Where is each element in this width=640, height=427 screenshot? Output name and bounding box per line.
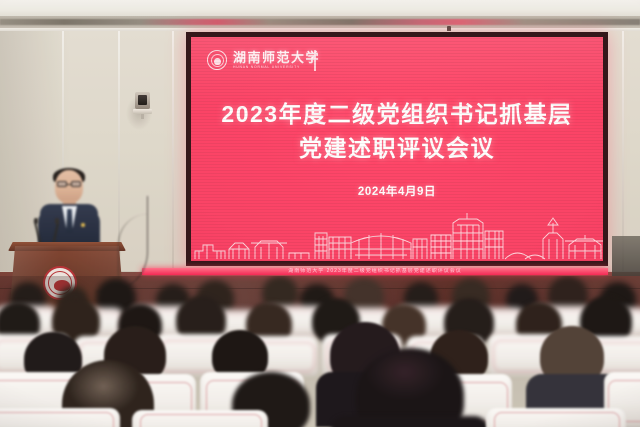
wall-panel-seam bbox=[622, 31, 624, 271]
logo-divider bbox=[314, 50, 316, 71]
microphone-head-right bbox=[55, 218, 59, 224]
campus-skyline-icon bbox=[191, 209, 603, 261]
camera-lens-icon bbox=[138, 95, 147, 105]
slide-title-line-1: 2023年度二级党组织书记抓基层 bbox=[191, 97, 603, 131]
seated-audience bbox=[0, 276, 640, 427]
university-name-cn: 湖南师范大学 bbox=[233, 51, 320, 64]
university-logo-lockup: 湖南师范大学 HUNAN NORMAL UNIVERSITY bbox=[207, 50, 320, 70]
audience-shoulders bbox=[330, 416, 490, 427]
slide-title-block: 2023年度二级党组织书记抓基层 党建述职评议会议 2024年4月9日 bbox=[191, 97, 603, 199]
led-ticker-text: 湖南师范大学 2023年度二级党组织书记抓基层党建述职评议会议 bbox=[142, 268, 608, 275]
slide-date: 2024年4月9日 bbox=[191, 183, 603, 199]
wall-panel-seam bbox=[172, 31, 174, 271]
seat bbox=[0, 408, 120, 427]
slide-title-line-2: 党建述职评议会议 bbox=[191, 131, 603, 165]
led-screen-bezel: 湖南师范大学 HUNAN NORMAL UNIVERSITY 2023年度二级党… bbox=[186, 32, 608, 266]
microphone-head-left bbox=[34, 218, 38, 224]
university-seal-icon bbox=[207, 50, 227, 70]
led-display: 湖南师范大学 HUNAN NORMAL UNIVERSITY 2023年度二级党… bbox=[191, 37, 603, 261]
seat bbox=[132, 410, 268, 427]
eyeglasses-icon bbox=[57, 181, 81, 187]
camera-arm bbox=[141, 114, 144, 119]
lapel-pin-icon bbox=[81, 223, 85, 227]
university-name-en: HUNAN NORMAL UNIVERSITY bbox=[233, 65, 320, 70]
wall-mounted-camera bbox=[133, 92, 152, 118]
ceiling-light-strip bbox=[0, 19, 640, 25]
conference-hall-screenshot: 湖南师范大学 HUNAN NORMAL UNIVERSITY 2023年度二级党… bbox=[0, 0, 640, 427]
side-equipment-box bbox=[612, 236, 640, 276]
seat bbox=[486, 408, 626, 427]
